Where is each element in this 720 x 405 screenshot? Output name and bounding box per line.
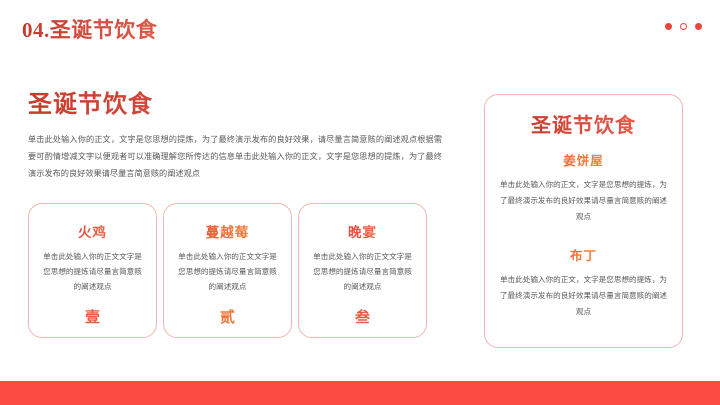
feature-card-2-body: 单击此处输入你的正文文字是您思想的提炼请尽量言简意赅的阐述观点 xyxy=(175,249,281,295)
right-section-2-body: 单击此处输入你的正文，文字是您思想的提炼，为了最终演示发布的良好效果请尽量言简意… xyxy=(498,272,670,320)
slide-header: 04.圣诞节饮食 xyxy=(22,14,157,44)
feature-card-1-title: 火鸡 xyxy=(78,221,107,241)
right-section-1-body: 单击此处输入你的正文，文字是您思想的提炼，为了最终演示发布的良好效果请尽量言简意… xyxy=(498,177,670,225)
bottom-accent-bar xyxy=(0,381,720,405)
left-content-column: 圣诞节饮食 单击此处输入你的正文，文字是您思想的提炼，为了最终演示发布的良好效果… xyxy=(28,84,444,183)
right-info-panel: 圣诞节饮食 姜饼屋 单击此处输入你的正文，文字是您思想的提炼，为了最终演示发布的… xyxy=(484,94,683,348)
feature-card-row: 火鸡 单击此处输入你的正文文字是您思想的提炼请尽量言简意赅的阐述观点 壹 蔓越莓… xyxy=(28,203,427,338)
right-panel-heading: 圣诞节饮食 xyxy=(531,109,636,138)
feature-card-3-title: 晚宴 xyxy=(348,221,377,241)
left-section-heading: 圣诞节饮食 xyxy=(28,84,444,119)
feature-card-3-number: 叁 xyxy=(299,306,426,327)
right-section-2-title: 布丁 xyxy=(570,245,597,264)
feature-card-1-number: 壹 xyxy=(29,306,156,327)
left-body-paragraph: 单击此处输入你的正文，文字是您思想的提炼，为了最终演示发布的良好效果，请尽量言简… xyxy=(28,131,442,183)
feature-card-2-title: 蔓越莓 xyxy=(206,221,250,241)
feature-card-3-body: 单击此处输入你的正文文字是您思想的提炼请尽量言简意赅的阐述观点 xyxy=(310,249,416,295)
dot-filled-left-icon xyxy=(665,23,672,30)
slide-root: 04.圣诞节饮食 圣诞节饮食 单击此处输入你的正文，文字是您思想的提炼，为了最终… xyxy=(0,0,720,405)
dot-hollow-center-icon xyxy=(680,23,687,30)
feature-card-1[interactable]: 火鸡 单击此处输入你的正文文字是您思想的提炼请尽量言简意赅的阐述观点 壹 xyxy=(28,203,157,338)
header-dot-decoration xyxy=(665,23,702,30)
feature-card-3[interactable]: 晚宴 单击此处输入你的正文文字是您思想的提炼请尽量言简意赅的阐述观点 叁 xyxy=(298,203,427,338)
page-title: 04.圣诞节饮食 xyxy=(22,14,157,44)
feature-card-1-body: 单击此处输入你的正文文字是您思想的提炼请尽量言简意赅的阐述观点 xyxy=(40,249,146,295)
right-section-1-title: 姜饼屋 xyxy=(563,150,604,169)
feature-card-2-number: 贰 xyxy=(164,306,291,327)
feature-card-2[interactable]: 蔓越莓 单击此处输入你的正文文字是您思想的提炼请尽量言简意赅的阐述观点 贰 xyxy=(163,203,292,338)
dot-filled-right-icon xyxy=(695,23,702,30)
